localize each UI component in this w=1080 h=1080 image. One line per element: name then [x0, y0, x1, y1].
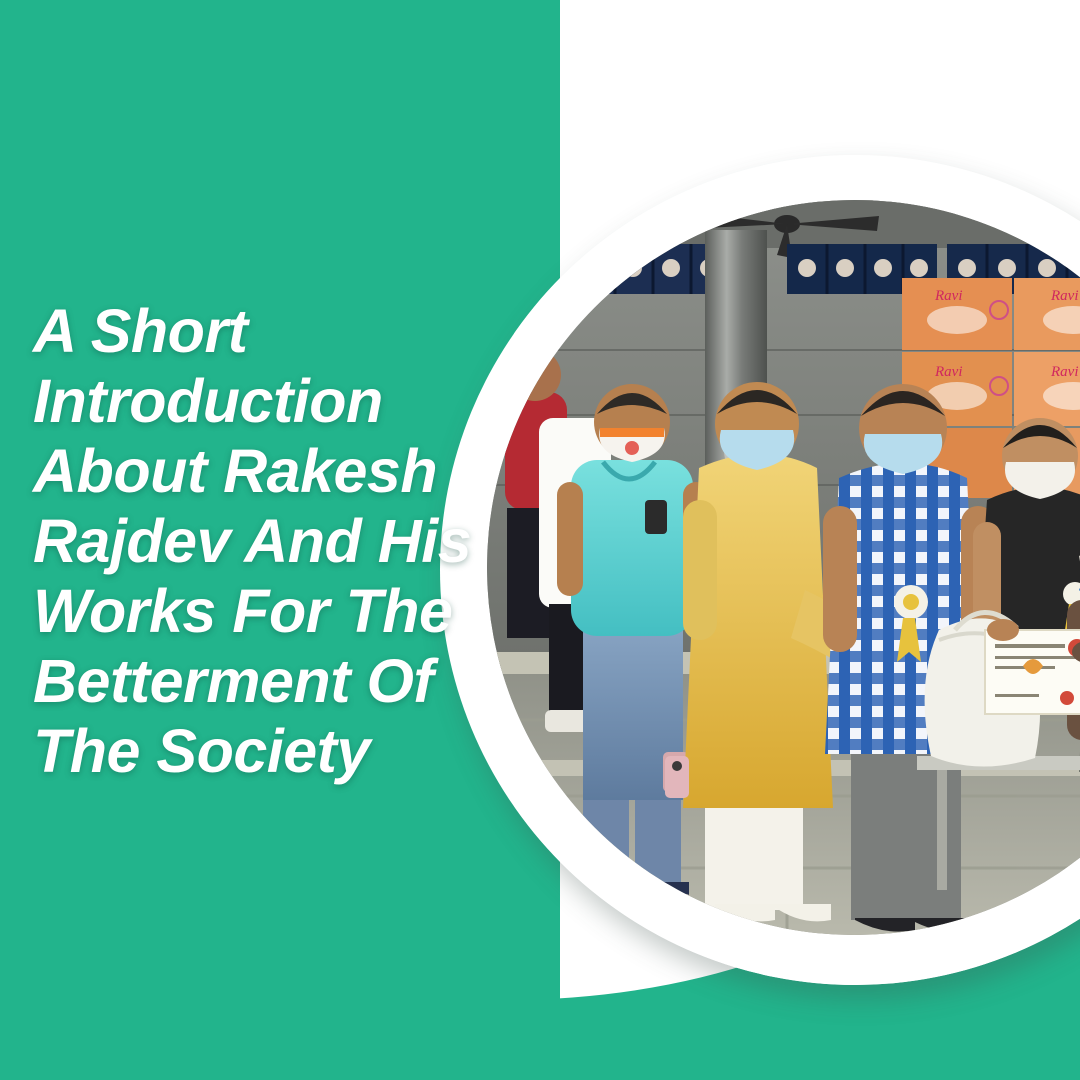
certificate [985, 630, 1080, 714]
svg-text:Ravi: Ravi [934, 288, 963, 304]
page-title: A Short Introduction About Rakesh Rajdev… [33, 296, 503, 786]
social-media-graphic: Ravi Ravi Ravi Ravi [0, 0, 1080, 1080]
svg-text:Ravi: Ravi [934, 364, 963, 380]
svg-text:Ravi: Ravi [1050, 364, 1079, 380]
hand-left [987, 619, 1019, 641]
svg-text:Ravi: Ravi [1050, 288, 1079, 304]
